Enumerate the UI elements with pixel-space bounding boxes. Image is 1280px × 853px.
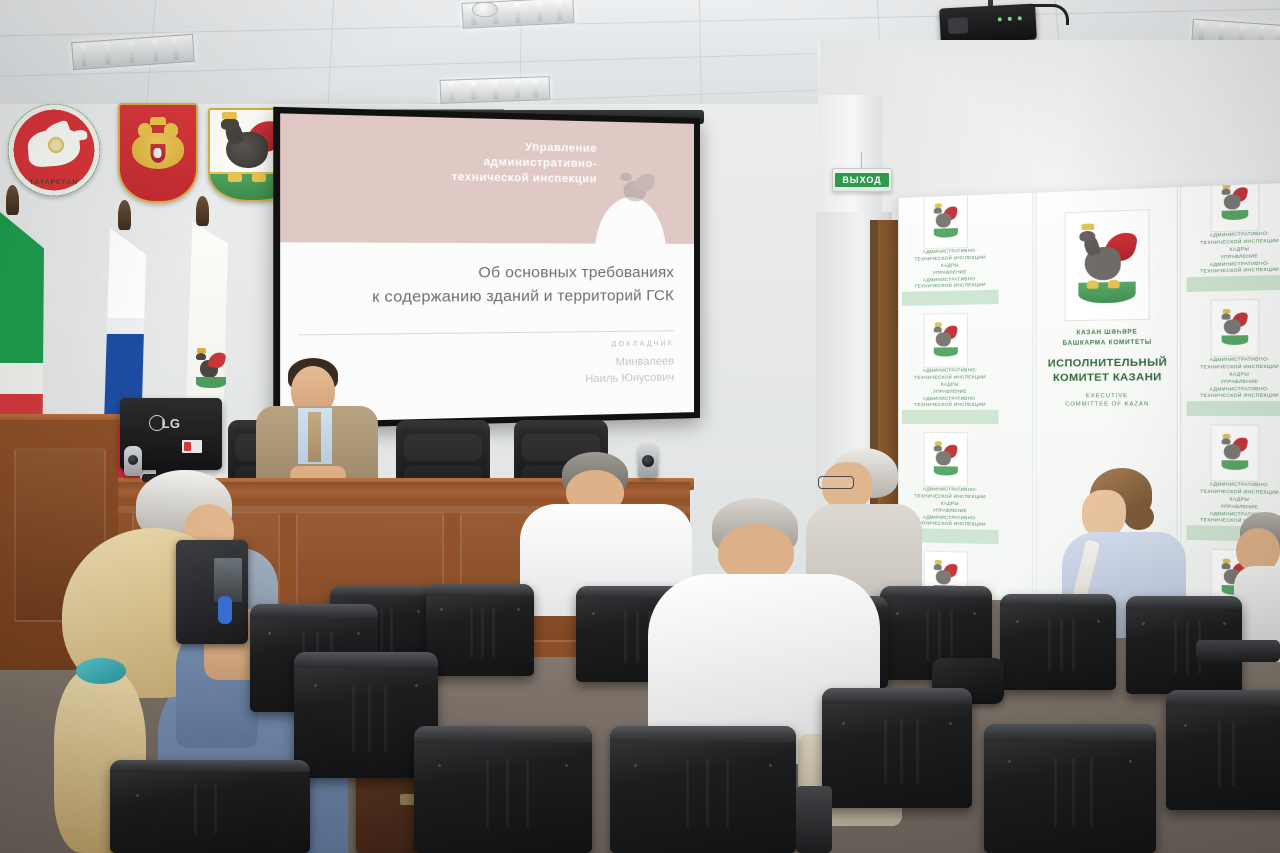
hair-bun bbox=[1124, 504, 1154, 530]
slide-speaker-name-line1: Минвалеев bbox=[585, 354, 674, 372]
monitor-sticker bbox=[182, 440, 202, 453]
exit-sign-label: ВЫХОД bbox=[835, 173, 888, 187]
hair-scrunchie bbox=[76, 658, 126, 684]
banner-english-text: EXECUTIVE COMMITTEE OF KAZAN bbox=[1044, 391, 1171, 410]
banner-pattern-line2: УПРАВЛЕНИЕ АДМИНИСТРАТИВНО-ТЕХНИЧЕСКОЙ И… bbox=[1191, 252, 1280, 276]
monitor-brand-label: LG bbox=[161, 416, 180, 431]
slide-divider bbox=[298, 330, 674, 335]
banner-russian-line1: ИСПОЛНИТЕЛЬНЫЙ bbox=[1044, 355, 1171, 371]
ceiling-light-panel bbox=[440, 76, 551, 104]
photographer-finger bbox=[218, 596, 232, 624]
banner-english-line1: EXECUTIVE bbox=[1044, 391, 1171, 401]
audience-chair[interactable] bbox=[984, 724, 1156, 853]
banner-tatar-text: КАЗАН ШӘҺӘРЕ БАШКАРМА КОМИТЕТЫ bbox=[1044, 328, 1171, 350]
zilant-emblem-icon bbox=[617, 167, 654, 216]
audience-chair[interactable] bbox=[1166, 690, 1280, 810]
projector-cable bbox=[1032, 4, 1069, 25]
slide-speaker-label: докладчик bbox=[585, 340, 674, 348]
slide-title: Об основных требованиях к содержанию зда… bbox=[301, 262, 674, 310]
banner-pattern-line2: УПРАВЛЕНИЕ АДМИНИСТРАТИВНО-ТЕХНИЧЕСКОЙ И… bbox=[906, 388, 995, 409]
eyeglasses-icon bbox=[818, 476, 854, 489]
tatarstan-caption: ТАТАРСТАН bbox=[24, 177, 84, 189]
flagpole-finial bbox=[6, 185, 19, 215]
slide-title-line2: к содержанию зданий и территорий ГСК bbox=[301, 285, 674, 310]
banner-pattern-line1: АДМИНИСТРАТИВНО-ТЕХНИЧЕСКОЙ ИНСПЕКЦИИ КА… bbox=[1191, 356, 1280, 379]
kazan-coat-of-arms-large bbox=[1065, 209, 1150, 321]
attendee-head bbox=[1082, 490, 1126, 538]
banner-pattern-line1: АДМИНИСТРАТИВНО-ТЕХНИЧЕСКОЙ ИНСПЕКЦИИ КА… bbox=[1191, 230, 1280, 255]
banner-russian-line2: КОМИТЕТ КАЗАНИ bbox=[1044, 370, 1171, 386]
banner-pattern-line1: АДМИНИСТРАТИВНО-ТЕХНИЧЕСКОЙ ИНСПЕКЦИИ КА… bbox=[906, 367, 995, 388]
flagpole-finial bbox=[118, 200, 131, 230]
exit-sign-wire bbox=[861, 152, 862, 168]
slide-title-line1: Об основных требованиях bbox=[301, 262, 674, 286]
chair-armrest bbox=[1196, 640, 1280, 662]
banner-pattern-line1: АДМИНИСТРАТИВНО-ТЕХНИЧЕСКОЙ ИНСПЕКЦИИ КА… bbox=[1191, 481, 1280, 504]
speaker-tie bbox=[308, 412, 321, 462]
conference-hall-photo: ТАТАРСТАН bbox=[0, 0, 1280, 853]
audience-chair[interactable] bbox=[414, 726, 592, 853]
banner-pattern-line2: УПРАВЛЕНИЕ АДМИНИСТРАТИВНО-ТЕХНИЧЕСКОЙ И… bbox=[906, 268, 995, 291]
slide-speaker-name-line2: Наиль Юнусович bbox=[585, 370, 674, 388]
audience-chair[interactable] bbox=[426, 584, 534, 676]
slide-speaker-block: докладчик Минвалеев Наиль Юнусович bbox=[585, 340, 674, 388]
projector bbox=[939, 4, 1037, 45]
audience-chair[interactable] bbox=[1000, 594, 1116, 690]
chair-armrest bbox=[796, 786, 832, 853]
flagpole-finial bbox=[196, 196, 209, 226]
banner-main-crest-block: КАЗАН ШӘҺӘРЕ БАШКАРМА КОМИТЕТЫ ИСПОЛНИТЕ… bbox=[1044, 208, 1171, 410]
banner-pattern-line2: УПРАВЛЕНИЕ АДМИНИСТРАТИВНО-ТЕХНИЧЕСКОЙ И… bbox=[1191, 378, 1280, 400]
audience-chair[interactable] bbox=[610, 726, 796, 853]
smoke-detector-icon bbox=[472, 2, 498, 17]
audience-chair[interactable] bbox=[110, 760, 310, 853]
exit-sign: ВЫХОД bbox=[832, 168, 892, 192]
audience-chair[interactable] bbox=[822, 688, 972, 808]
coat-of-arms-tatarstan: ТАТАРСТАН bbox=[8, 104, 100, 196]
banner-pattern-line1: АДМИНИСТРАТИВНО-ТЕХНИЧЕСКОЙ ИНСПЕКЦИИ КА… bbox=[906, 247, 995, 270]
slide-organization: Управление административно- технической … bbox=[452, 139, 597, 188]
banner-english-line2: COMMITTEE OF KAZAN bbox=[1044, 401, 1171, 411]
smartphone[interactable] bbox=[176, 540, 248, 644]
banner-russian-text: ИСПОЛНИТЕЛЬНЫЙ КОМИТЕТ КАЗАНИ bbox=[1044, 355, 1171, 385]
coat-of-arms-russia bbox=[118, 103, 198, 203]
banner-tatar-line2: БАШКАРМА КОМИТЕТЫ bbox=[1044, 338, 1171, 350]
flag-kazan-emblem bbox=[196, 348, 226, 388]
slide-org-line3: технической инспекции bbox=[452, 170, 597, 188]
